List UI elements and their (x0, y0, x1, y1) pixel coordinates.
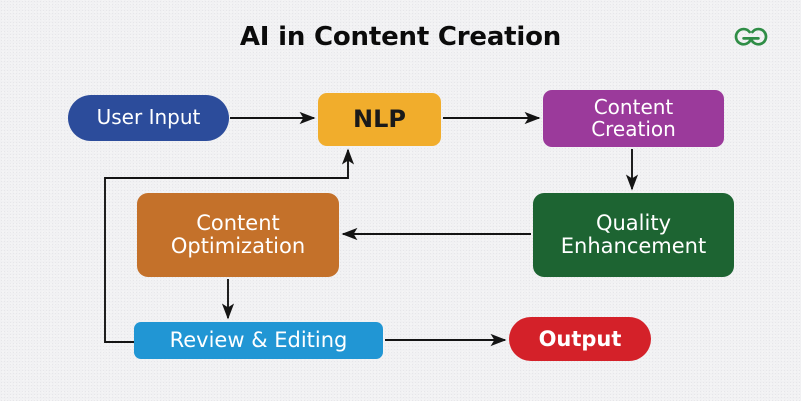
node-output-label: Output (539, 328, 622, 351)
node-quality-enhancement[interactable]: Quality Enhancement (533, 193, 734, 277)
node-review-editing-label: Review & Editing (170, 329, 348, 352)
node-content-creation[interactable]: Content Creation (543, 90, 724, 147)
node-content-creation-label: Content Creation (591, 97, 676, 140)
node-output[interactable]: Output (509, 317, 651, 361)
node-nlp[interactable]: NLP (318, 93, 441, 146)
node-user-input[interactable]: User Input (68, 95, 229, 141)
node-user-input-label: User Input (97, 107, 201, 129)
node-review-editing[interactable]: Review & Editing (134, 322, 383, 359)
node-quality-enhancement-label: Quality Enhancement (561, 212, 706, 257)
node-nlp-label: NLP (353, 107, 406, 133)
diagram-canvas: AI in Content Creation Use (0, 0, 801, 401)
page-title: AI in Content Creation (0, 22, 801, 52)
geeksforgeeks-logo-icon (728, 18, 774, 54)
node-content-optimization-label: Content Optimization (171, 212, 305, 257)
node-content-optimization[interactable]: Content Optimization (137, 193, 339, 277)
